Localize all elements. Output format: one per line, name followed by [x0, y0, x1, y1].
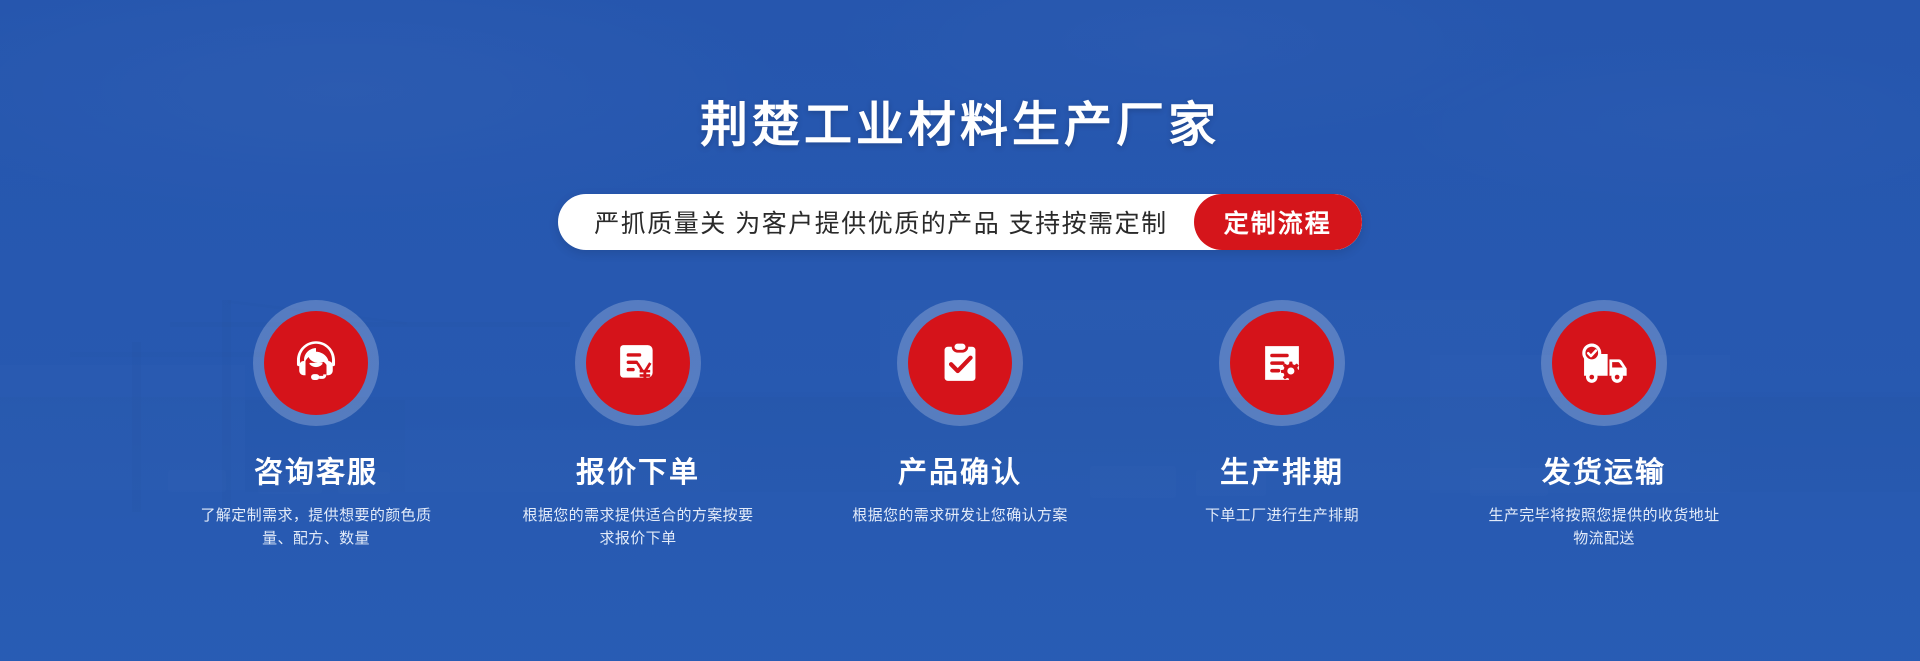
step-title: 报价下单 [576, 458, 700, 490]
step-title: 生产排期 [1220, 458, 1344, 490]
step-item[interactable]: 报价下单 根据您的需求提供适合的方案按要求报价下单 [507, 300, 769, 550]
page-title: 荆楚工业材料生产厂家 [0, 98, 1920, 153]
step-item[interactable]: 产品确认 根据您的需求研发让您确认方案 [829, 300, 1091, 550]
slogan-pill-wrapper: 严抓质量关 为客户提供优质的产品 支持按需定制 定制流程 [0, 194, 1920, 250]
promo-banner-page: 荆楚工业材料生产厂家 严抓质量关 为客户提供优质的产品 支持按需定制 定制流程 [0, 0, 1920, 661]
delivery-truck-check-icon [1575, 334, 1633, 392]
step-icon-circle [586, 311, 690, 415]
step-description: 了解定制需求，提供想要的颜色质量、配方、数量 [193, 504, 439, 551]
step-icon-ring[interactable] [253, 300, 379, 426]
step-icon-circle [908, 311, 1012, 415]
step-item[interactable]: 生产排期 下单工厂进行生产排期 [1151, 300, 1413, 550]
document-gear-icon [1255, 336, 1309, 390]
slogan-text: 严抓质量关 为客户提供优质的产品 支持按需定制 [558, 194, 1193, 250]
process-steps: 咨询客服 了解定制需求，提供想要的颜色质量、配方、数量 [0, 300, 1920, 550]
step-title: 咨询客服 [254, 458, 378, 490]
quote-invoice-yuan-icon [612, 337, 664, 389]
step-description: 根据您的需求提供适合的方案按要求报价下单 [515, 504, 761, 551]
slogan-pill: 严抓质量关 为客户提供优质的产品 支持按需定制 定制流程 [558, 194, 1361, 250]
step-icon-ring[interactable] [1219, 300, 1345, 426]
headset-support-icon [287, 334, 345, 392]
step-title: 产品确认 [898, 458, 1022, 490]
custom-process-button[interactable]: 定制流程 [1194, 194, 1362, 250]
step-icon-circle [264, 311, 368, 415]
step-title: 发货运输 [1542, 458, 1666, 490]
clipboard-check-icon [934, 337, 986, 389]
step-icon-ring[interactable] [575, 300, 701, 426]
step-description: 生产完毕将按照您提供的收货地址物流配送 [1481, 504, 1727, 551]
step-icon-circle [1230, 311, 1334, 415]
step-icon-ring[interactable] [1541, 300, 1667, 426]
step-description: 根据您的需求研发让您确认方案 [852, 504, 1068, 527]
step-description: 下单工厂进行生产排期 [1205, 504, 1359, 527]
step-item[interactable]: 发货运输 生产完毕将按照您提供的收货地址物流配送 [1473, 300, 1735, 550]
step-icon-ring[interactable] [897, 300, 1023, 426]
step-icon-circle [1552, 311, 1656, 415]
step-item[interactable]: 咨询客服 了解定制需求，提供想要的颜色质量、配方、数量 [185, 300, 447, 550]
